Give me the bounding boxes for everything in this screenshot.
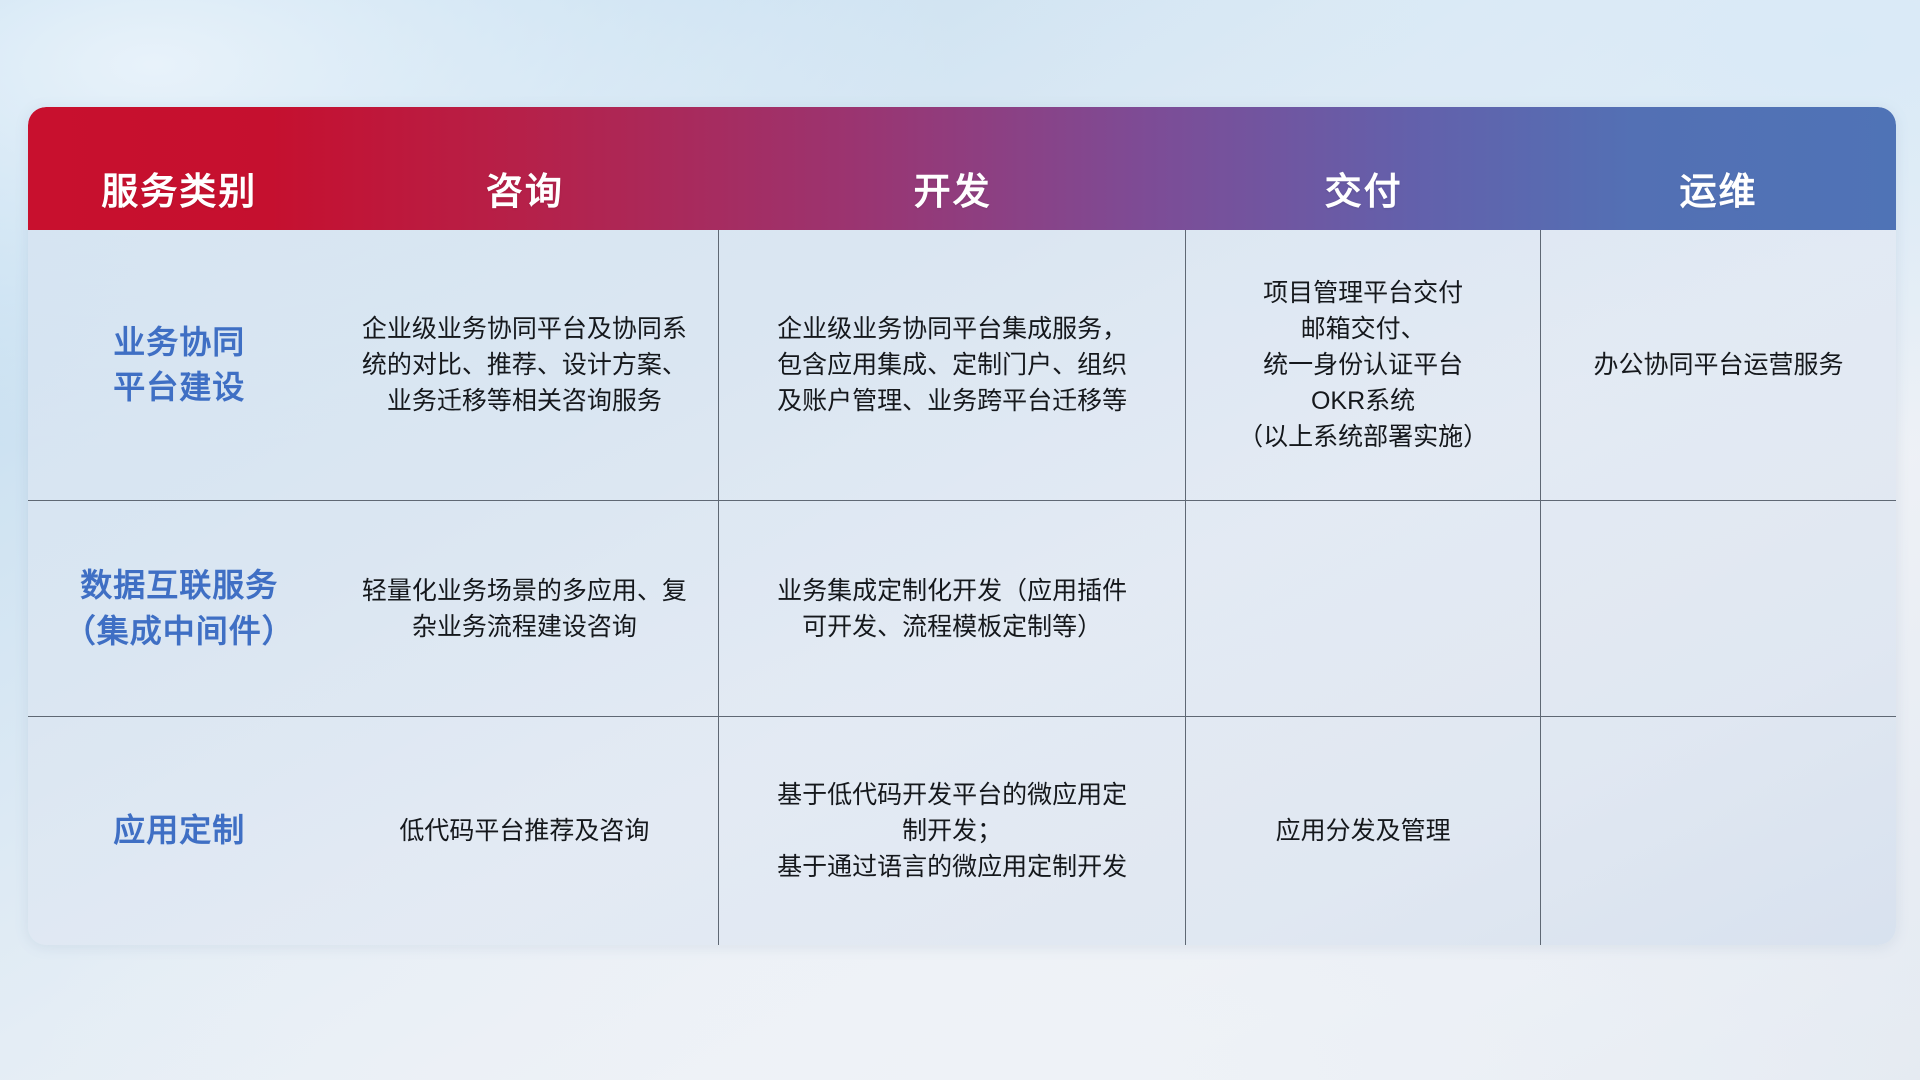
cell-operations <box>1541 717 1896 945</box>
cell-delivery: 应用分发及管理 <box>1186 717 1541 945</box>
cell-consulting: 轻量化业务场景的多应用、复 杂业务流程建设咨询 <box>331 501 720 716</box>
cell-consulting: 低代码平台推荐及咨询 <box>331 717 720 945</box>
cell-delivery <box>1186 501 1541 716</box>
row-category-label: 应用定制 <box>28 717 331 945</box>
cell-consulting: 企业级业务协同平台及协同系 统的对比、推荐、设计方案、 业务迁移等相关咨询服务 <box>331 230 720 500</box>
cell-development: 业务集成定制化开发（应用插件 可开发、流程模板定制等） <box>719 501 1186 716</box>
cell-operations: 办公协同平台运营服务 <box>1541 230 1896 500</box>
column-header-operations: 运维 <box>1541 107 1896 230</box>
table-row: 数据互联服务 （集成中间件） 轻量化业务场景的多应用、复 杂业务流程建设咨询 业… <box>28 501 1896 717</box>
cell-development: 基于低代码开发平台的微应用定 制开发； 基于通过语言的微应用定制开发 <box>719 717 1186 945</box>
column-header-consulting: 咨询 <box>331 107 720 230</box>
cell-development: 企业级业务协同平台集成服务， 包含应用集成、定制门户、组织 及账户管理、业务跨平… <box>719 230 1186 500</box>
table-body: 业务协同 平台建设 企业级业务协同平台及协同系 统的对比、推荐、设计方案、 业务… <box>28 230 1896 945</box>
column-header-delivery: 交付 <box>1186 107 1541 230</box>
row-category-label: 数据互联服务 （集成中间件） <box>28 501 331 716</box>
column-header-category: 服务类别 <box>28 107 331 230</box>
cell-delivery: 项目管理平台交付 邮箱交付、 统一身份认证平台 OKR系统 （以上系统部署实施） <box>1186 230 1541 500</box>
cell-operations <box>1541 501 1896 716</box>
row-category-label: 业务协同 平台建设 <box>28 230 331 500</box>
slide-canvas: 服务类别 咨询 开发 交付 运维 业务协同 平台建设 企业级业务协同平台及协同系… <box>0 0 1920 1080</box>
table-row: 业务协同 平台建设 企业级业务协同平台及协同系 统的对比、推荐、设计方案、 业务… <box>28 230 1896 501</box>
services-matrix-table: 服务类别 咨询 开发 交付 运维 业务协同 平台建设 企业级业务协同平台及协同系… <box>28 107 1896 945</box>
table-header-row: 服务类别 咨询 开发 交付 运维 <box>28 107 1896 230</box>
table-row: 应用定制 低代码平台推荐及咨询 基于低代码开发平台的微应用定 制开发； 基于通过… <box>28 717 1896 945</box>
column-header-development: 开发 <box>719 107 1186 230</box>
